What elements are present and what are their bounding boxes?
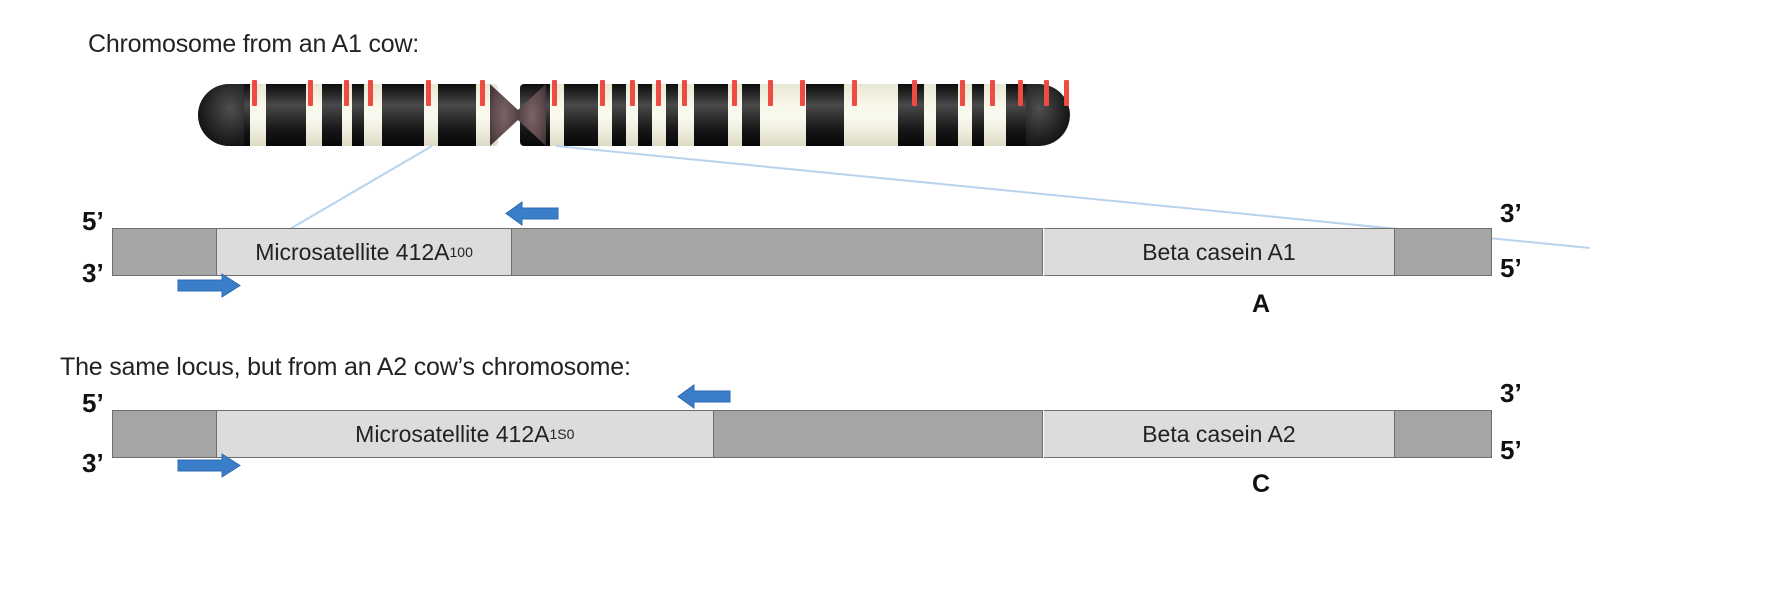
chromosome-tick — [344, 80, 349, 106]
forward-primer-arrow — [176, 452, 242, 478]
locus-a1-left-5prime: 5’ — [82, 206, 104, 237]
locus-a1-left-3prime: 3’ — [82, 258, 104, 289]
chromosome-tick — [552, 80, 557, 106]
locus-a2-microsatellite-label: Microsatellite 412A — [355, 421, 549, 448]
chromosome-tick — [852, 80, 857, 106]
reverse-primer-arrow — [504, 200, 560, 226]
chromosome-tick — [600, 80, 605, 106]
centromere — [490, 84, 546, 146]
locus-a1-spacer — [512, 228, 1043, 276]
chromosome-tick — [308, 80, 313, 106]
chromosome-tick — [630, 80, 635, 106]
chromosome-tick — [1018, 80, 1023, 106]
chromosome-tick — [426, 80, 431, 106]
forward-primer-arrow — [176, 272, 242, 298]
heading-a2-chromosome: The same locus, but from an A2 cow’s chr… — [60, 353, 631, 382]
chromosome-tick — [768, 80, 773, 106]
locus-a2-left-5prime: 5’ — [82, 388, 104, 419]
locus-bar-a1: Microsatellite 412A100 Beta casein A1 — [112, 228, 1492, 276]
locus-a1-beta-casein: Beta casein A1 — [1044, 228, 1396, 276]
locus-a2-left-3prime: 3’ — [82, 448, 104, 479]
locus-a2-right-3prime: 3’ — [1500, 378, 1522, 409]
locus-a2-microsatellite-sup: 1S0 — [549, 426, 574, 442]
locus-a2-flank-left — [112, 410, 217, 458]
locus-a1-right-5prime: 5’ — [1500, 253, 1522, 284]
locus-a1-microsatellite-sup: 100 — [450, 244, 473, 260]
locus-a1-microsatellite: Microsatellite 412A100 — [217, 228, 512, 276]
chromosome-tick — [912, 80, 917, 106]
chromosome-tick — [252, 80, 257, 106]
chromosome-tick — [480, 80, 485, 106]
locus-a2-beta-casein: Beta casein A2 — [1044, 410, 1396, 458]
locus-a1-flank-left — [112, 228, 217, 276]
locus-a2-allele-letter: C — [1252, 470, 1270, 499]
locus-a1-microsatellite-label: Microsatellite 412A — [255, 239, 449, 266]
chromosome-tick — [800, 80, 805, 106]
chromosome-tick — [990, 80, 995, 106]
chromosome-tick — [1044, 80, 1049, 106]
locus-a1-allele-letter: A — [1252, 290, 1270, 319]
locus-a2-flank-right — [1395, 410, 1492, 458]
chromosome-tick — [682, 80, 687, 106]
heading-a1-chromosome: Chromosome from an A1 cow: — [88, 30, 419, 59]
locus-a1-right-3prime: 3’ — [1500, 198, 1522, 229]
chromosome-tick — [732, 80, 737, 106]
chromosome-illustration — [198, 84, 1070, 146]
locus-a2-microsatellite: Microsatellite 412A1S0 — [217, 410, 714, 458]
locus-a2-spacer — [714, 410, 1044, 458]
locus-a2-right-5prime: 5’ — [1500, 435, 1522, 466]
locus-bar-a2: Microsatellite 412A1S0 Beta casein A2 — [112, 410, 1492, 458]
reverse-primer-arrow — [676, 383, 732, 409]
chromosome-tick — [656, 80, 661, 106]
chromosome-tick — [1064, 80, 1069, 106]
locus-a1-flank-right — [1395, 228, 1492, 276]
chromosome-tick — [368, 80, 373, 106]
chromosome-tick — [960, 80, 965, 106]
